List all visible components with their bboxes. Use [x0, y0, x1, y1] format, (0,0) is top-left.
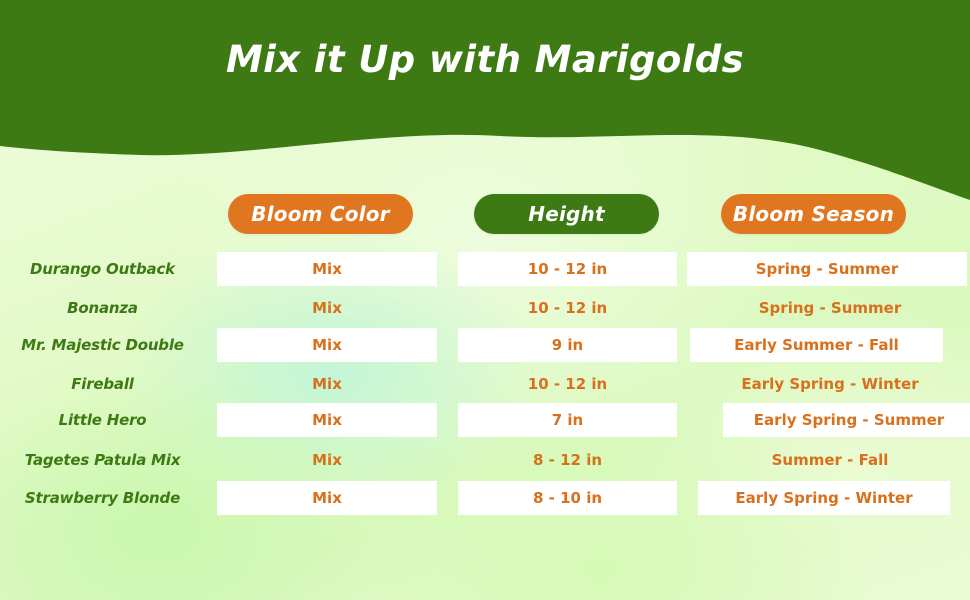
cell-bloom-season: Spring - Summer [695, 291, 965, 325]
cell-height: 8 - 12 in [458, 443, 677, 477]
table-row: Durango Outback Mix 10 - 12 in Spring - … [0, 252, 970, 286]
column-header-bloom-color: Bloom Color [228, 194, 413, 234]
cell-bloom-color: Mix [217, 252, 437, 286]
row-label-little-hero: Little Hero [0, 403, 205, 437]
row-label-strawberry-blonde: Strawberry Blonde [0, 481, 205, 515]
marigold-comparison-infographic: Mix it Up with Marigolds Bloom Color Hei… [0, 0, 970, 600]
table-row: Strawberry Blonde Mix 8 - 10 in Early Sp… [0, 481, 970, 515]
cell-bloom-season: Early Spring - Winter [698, 481, 950, 515]
cell-height: 10 - 12 in [458, 367, 677, 401]
cell-bloom-color: Mix [217, 481, 437, 515]
cell-bloom-season: Spring - Summer [687, 252, 967, 286]
cell-bloom-season: Early Spring - Summer [723, 403, 970, 437]
cell-height: 10 - 12 in [458, 291, 677, 325]
column-header-bloom-season: Bloom Season [721, 194, 906, 234]
cell-height: 10 - 12 in [458, 252, 677, 286]
row-label-tagetes-patula-mix: Tagetes Patula Mix [0, 443, 205, 477]
column-header-height: Height [474, 194, 659, 234]
cell-height: 8 - 10 in [458, 481, 677, 515]
cell-bloom-season: Summer - Fall [695, 443, 965, 477]
cell-bloom-season: Early Summer - Fall [690, 328, 943, 362]
table-header-row: Bloom Color Height Bloom Season [0, 194, 970, 236]
table-row: Little Hero Mix 7 in Early Spring - Summ… [0, 403, 970, 437]
cell-bloom-color: Mix [217, 291, 437, 325]
comparison-table: Bloom Color Height Bloom Season Durango … [0, 0, 970, 600]
cell-bloom-color: Mix [217, 367, 437, 401]
table-row: Bonanza Mix 10 - 12 in Spring - Summer [0, 291, 970, 325]
row-label-fireball: Fireball [0, 367, 205, 401]
row-label-bonanza: Bonanza [0, 291, 205, 325]
cell-height: 7 in [458, 403, 677, 437]
table-row: Mr. Majestic Double Mix 9 in Early Summe… [0, 328, 970, 362]
cell-bloom-color: Mix [217, 403, 437, 437]
cell-bloom-color: Mix [217, 443, 437, 477]
table-row: Tagetes Patula Mix Mix 8 - 12 in Summer … [0, 443, 970, 477]
table-row: Fireball Mix 10 - 12 in Early Spring - W… [0, 367, 970, 401]
row-label-mr-majestic-double: Mr. Majestic Double [0, 328, 205, 362]
row-label-durango-outback: Durango Outback [0, 252, 205, 286]
cell-bloom-season: Early Spring - Winter [695, 367, 965, 401]
cell-height: 9 in [458, 328, 677, 362]
cell-bloom-color: Mix [217, 328, 437, 362]
